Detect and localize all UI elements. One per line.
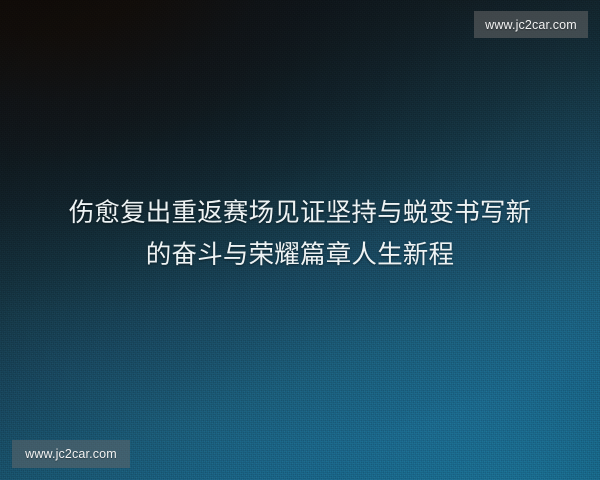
watermark-top-right-text: www.jc2car.com <box>485 18 577 32</box>
background-vignette <box>0 0 600 480</box>
watermark-top-right: www.jc2car.com <box>474 11 588 38</box>
watermark-bottom-left-text: www.jc2car.com <box>25 447 117 461</box>
banner-image: 伤愈复出重返赛场见证坚持与蜕变书写新的奋斗与荣耀篇章人生新程 www.jc2ca… <box>0 0 600 480</box>
watermark-bottom-left: www.jc2car.com <box>12 440 130 468</box>
